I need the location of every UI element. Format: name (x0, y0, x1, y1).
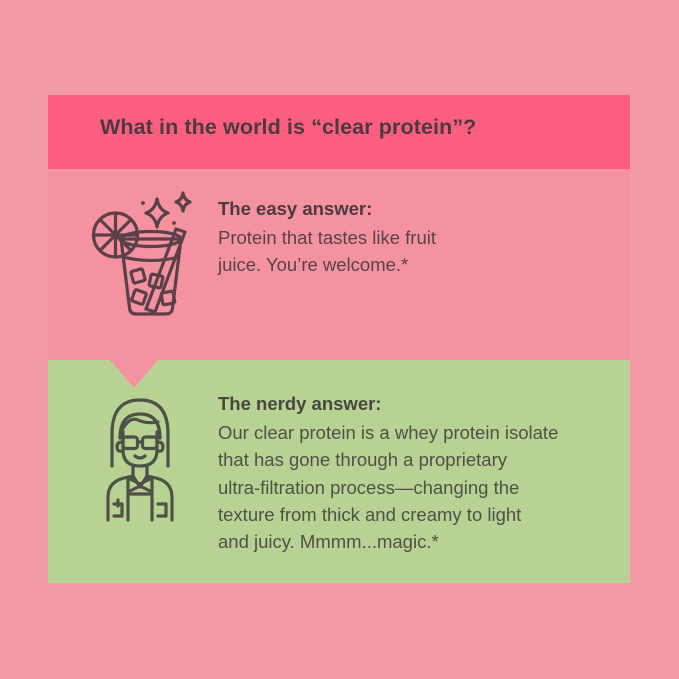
nerdy-speech-tail-icon (110, 360, 158, 388)
clear-protein-card: What in the world is “clear protein”? (48, 95, 630, 583)
nerdy-answer-section: The nerdy answer: Our clear protein is a… (48, 360, 630, 583)
easy-answer-heading: The easy answer: (218, 197, 618, 222)
easy-answer-section: The easy answer: Protein that tastes lik… (48, 169, 630, 360)
easy-answer-body: Protein that tastes like fruit juice. Yo… (218, 224, 618, 279)
nerdy-answer-heading: The nerdy answer: (218, 392, 628, 417)
infographic-canvas: What in the world is “clear protein”? (0, 0, 679, 679)
page-title: What in the world is “clear protein”? (100, 115, 476, 140)
nerdy-answer-text: The nerdy answer: Our clear protein is a… (218, 392, 628, 556)
easy-answer-text: The easy answer: Protein that tastes lik… (218, 197, 618, 279)
easy-answer-row: The easy answer: Protein that tastes lik… (88, 191, 618, 319)
nerdy-answer-row: The nerdy answer: Our clear protein is a… (88, 392, 628, 556)
nerdy-scientist-icon (88, 392, 192, 524)
clear-protein-drink-icon (88, 191, 192, 319)
nerdy-answer-body: Our clear protein is a whey protein isol… (218, 419, 628, 556)
